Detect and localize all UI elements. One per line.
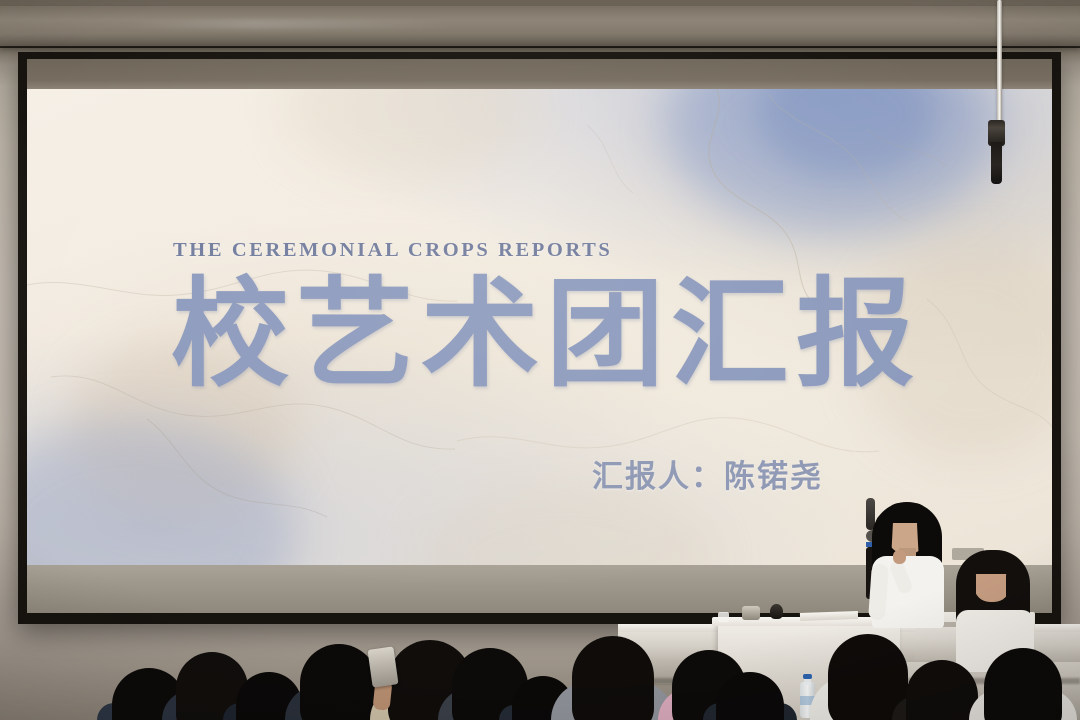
presentation-slide: THE CEREMONIAL CROPS REPORTS 校艺术团汇报 汇报人：… [27, 89, 1052, 565]
roller-highlight [120, 20, 460, 29]
watercolor-blot-top-left [277, 89, 537, 179]
desk-microphone-icon [770, 604, 783, 619]
slide-main-title: 校艺术团汇报 [171, 275, 921, 393]
watercolor-blot-top-right [667, 89, 997, 234]
audience-head [572, 636, 654, 720]
watercolor-blot-top-right-deep [757, 89, 937, 179]
audience-head [300, 644, 378, 720]
watercolor-blot-bottom-left [27, 419, 297, 565]
slide-presenter-line: 汇报人：陈锘尧 [592, 451, 823, 496]
screen-roller-housing [0, 6, 1080, 46]
rod-tail [991, 142, 1002, 184]
slide-eyebrow-text: THE CEREMONIAL CROPS REPORTS [173, 239, 612, 262]
screen-unlit-top-band [27, 59, 1052, 89]
photo-scene: THE CEREMONIAL CROPS REPORTS 校艺术团汇报 汇报人：… [0, 0, 1080, 720]
desk-device [742, 606, 760, 620]
phone-screen-icon [367, 646, 398, 687]
audience-head [984, 648, 1062, 720]
desk-cup [718, 612, 729, 622]
speaker-hand [893, 550, 906, 564]
